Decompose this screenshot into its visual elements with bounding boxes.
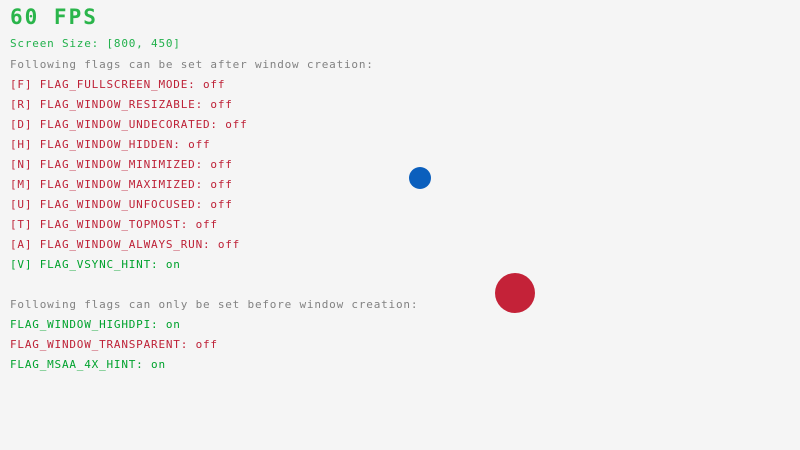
flag-row-msaa-4x-hint: FLAG_MSAA_4X_HINT: on	[10, 358, 166, 371]
flag-row-window-topmost[interactable]: [T] FLAG_WINDOW_TOPMOST: off	[10, 218, 218, 231]
blue-circle-shape	[409, 167, 431, 189]
flag-row-fullscreen-mode[interactable]: [F] FLAG_FULLSCREEN_MODE: off	[10, 78, 225, 91]
fps-counter: 60 FPS	[10, 6, 98, 28]
flag-row-window-resizable[interactable]: [R] FLAG_WINDOW_RESIZABLE: off	[10, 98, 233, 111]
flag-row-window-undecorated[interactable]: [D] FLAG_WINDOW_UNDECORATED: off	[10, 118, 248, 131]
section-header-after-creation: Following flags can be set after window …	[10, 58, 374, 71]
section-header-before-creation: Following flags can only be set before w…	[10, 298, 418, 311]
raylib-window-canvas[interactable]: 60 FPS Screen Size: [800, 450] Following…	[0, 0, 800, 450]
flag-row-window-always-run[interactable]: [A] FLAG_WINDOW_ALWAYS_RUN: off	[10, 238, 240, 251]
flag-row-vsync-hint[interactable]: [V] FLAG_VSYNC_HINT: on	[10, 258, 181, 271]
red-circle-shape	[495, 273, 535, 313]
flag-row-window-maximized[interactable]: [M] FLAG_WINDOW_MAXIMIZED: off	[10, 178, 233, 191]
flag-row-window-minimized[interactable]: [N] FLAG_WINDOW_MINIMIZED: off	[10, 158, 233, 171]
flag-row-window-unfocused[interactable]: [U] FLAG_WINDOW_UNFOCUSED: off	[10, 198, 233, 211]
screen-size-label: Screen Size: [800, 450]	[10, 37, 181, 50]
flag-row-window-transparent: FLAG_WINDOW_TRANSPARENT: off	[10, 338, 218, 351]
flag-row-window-hidden[interactable]: [H] FLAG_WINDOW_HIDDEN: off	[10, 138, 210, 151]
flag-row-window-highdpi: FLAG_WINDOW_HIGHDPI: on	[10, 318, 181, 331]
